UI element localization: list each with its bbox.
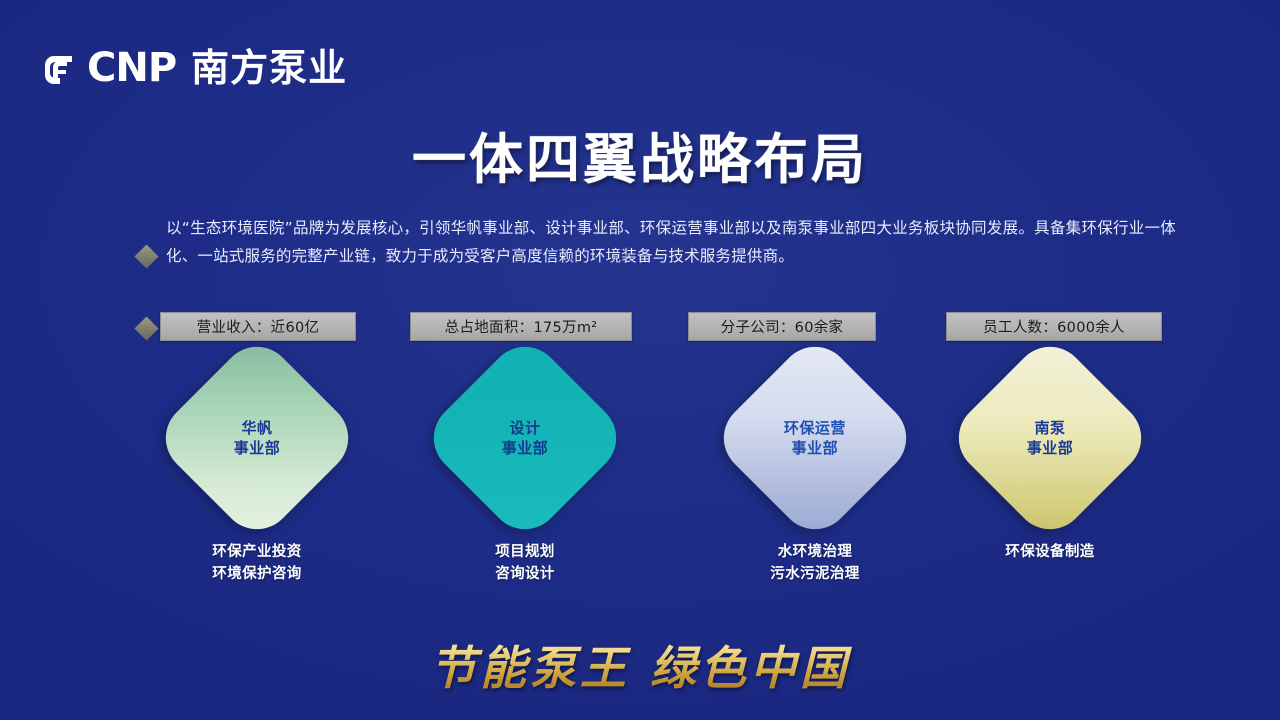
business-pillars: 华帆 事业部 环保产业投资 环境保护咨询 设计 事业部 项目规划 咨询设计 环保… [0, 363, 1280, 593]
pillar-shape-sheji[interactable]: 设计 事业部 [419, 332, 631, 544]
stats-row: 营业收入：近60亿 总占地面积：175万m² 分子公司：60余家 员工人数：60… [160, 312, 1170, 342]
footer-slogan: 节能泵王 绿色中国 [0, 632, 1280, 698]
stat-badge-subsidiaries: 分子公司：60余家 [688, 312, 876, 341]
diamond-bullet-icon [134, 316, 158, 340]
pillar-caption: 环保设备制造 [925, 541, 1175, 563]
pillar-huanbao-yunying[interactable]: 环保运营 事业部 水环境治理 污水污泥治理 [690, 363, 940, 586]
description-paragraph: 以“生态环境医院”品牌为发展核心，引领华帆事业部、设计事业部、环保运营事业部以及… [166, 214, 1176, 270]
pillar-shape-huafan[interactable]: 华帆 事业部 [151, 332, 363, 544]
pillar-shape-label: 南泵 事业部 [1027, 418, 1074, 459]
logo-wordmark: CNP [87, 48, 176, 88]
pillar-shape-label: 设计 事业部 [502, 418, 549, 459]
pillar-huafan[interactable]: 华帆 事业部 环保产业投资 环境保护咨询 [132, 363, 382, 586]
pillar-nanbeng[interactable]: 南泵 事业部 环保设备制造 [925, 363, 1175, 563]
cnp-monogram-icon [40, 49, 78, 87]
stat-badge-revenue: 营业收入：近60亿 [160, 312, 356, 341]
pillar-shape-label: 华帆 事业部 [234, 418, 281, 459]
pillar-shape-huanbao-yunying[interactable]: 环保运营 事业部 [709, 332, 921, 544]
logo-chinese-name: 南方泵业 [191, 49, 347, 87]
brand-logo: CNP 南方泵业 [40, 48, 347, 88]
pillar-caption: 环保产业投资 环境保护咨询 [132, 541, 382, 586]
pillar-shape-nanbeng[interactable]: 南泵 事业部 [944, 332, 1156, 544]
stat-badge-employees: 员工人数：6000余人 [946, 312, 1162, 341]
pillar-caption: 水环境治理 污水污泥治理 [690, 541, 940, 586]
slide-canvas: CNP 南方泵业 一体四翼战略布局 以“生态环境医院”品牌为发展核心，引领华帆事… [0, 0, 1280, 720]
page-title: 一体四翼战略布局 [0, 132, 1280, 189]
pillar-caption: 项目规划 咨询设计 [400, 541, 650, 586]
pillar-shape-label: 环保运营 事业部 [784, 418, 846, 459]
pillar-sheji[interactable]: 设计 事业部 项目规划 咨询设计 [400, 363, 650, 586]
diamond-bullet-icon [134, 244, 158, 268]
stat-badge-land-area: 总占地面积：175万m² [410, 312, 632, 341]
